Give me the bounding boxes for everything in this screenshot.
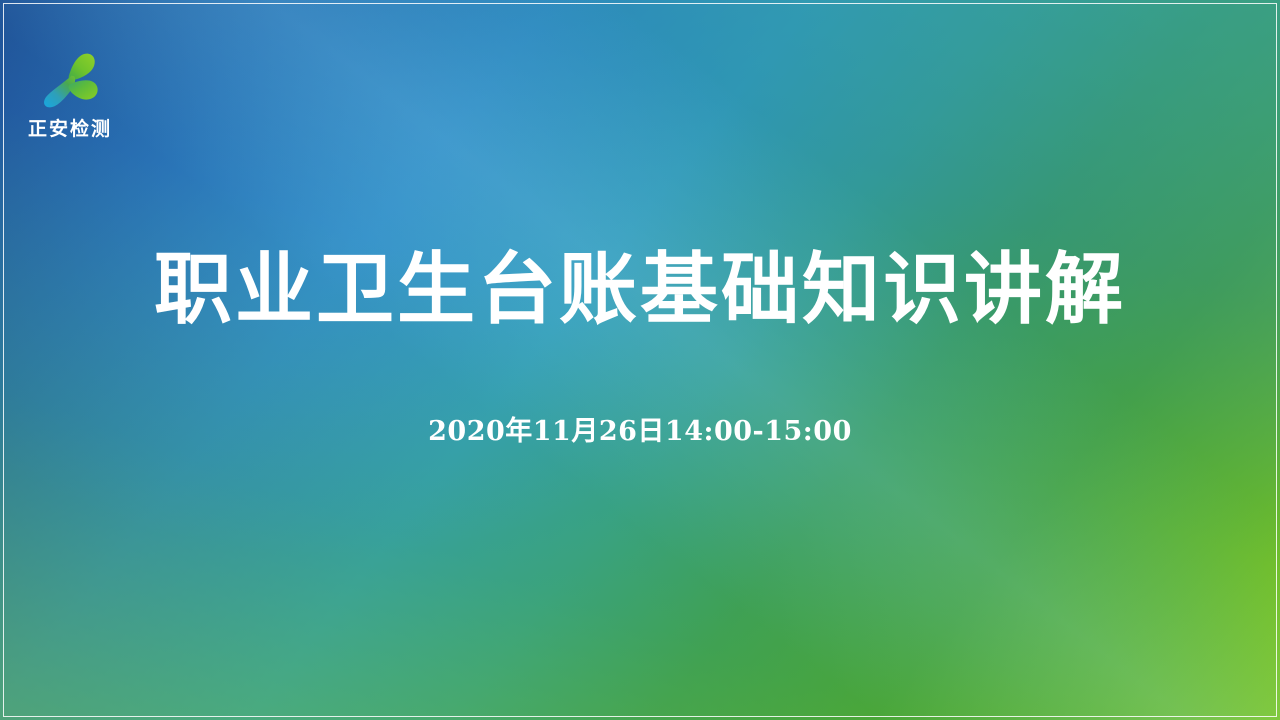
background-color-wash bbox=[0, 0, 1280, 720]
subtitle-container: 2020年11月26日14:00-15:00 bbox=[0, 416, 1280, 448]
title-container: 职业卫生台账基础知识讲解 bbox=[0, 247, 1280, 333]
background-glow bbox=[0, 0, 1280, 720]
background-diagonal-streak bbox=[0, 0, 1280, 720]
slide-subtitle-datetime: 2020年11月26日14:00-15:00 bbox=[0, 416, 1280, 448]
brand-name-label: 正安检测 bbox=[28, 119, 112, 140]
slide-title: 职业卫生台账基础知识讲解 bbox=[0, 247, 1280, 333]
abstract-person-mark-icon bbox=[33, 44, 107, 116]
brand-logo: 正安检测 bbox=[8, 44, 132, 150]
slide-border-frame bbox=[3, 3, 1277, 717]
background-base-gradient bbox=[0, 0, 1280, 720]
presentation-slide: 正安检测 职业卫生台账基础知识讲解 2020年11月26日14:00-15:00 bbox=[0, 0, 1280, 720]
